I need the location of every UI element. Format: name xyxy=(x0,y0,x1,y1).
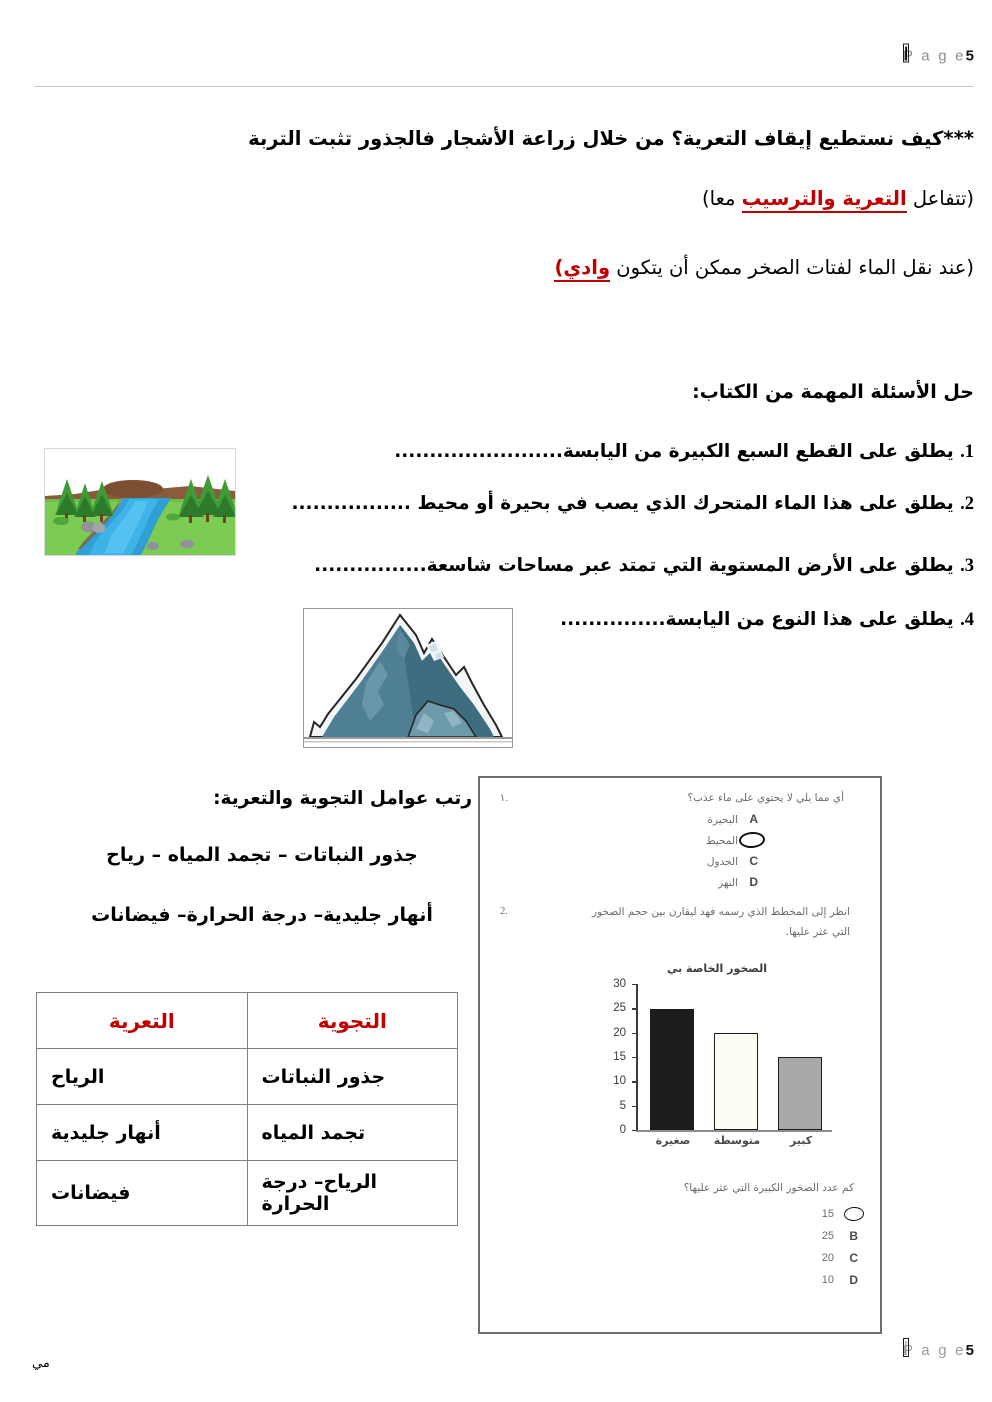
chart-ytick-25: 25 xyxy=(632,1008,637,1009)
question-3-text: يطلق على الأرض المستوية التي تمتد عبر مس… xyxy=(314,555,954,576)
footer-arabic-fragment: مي xyxy=(32,1356,50,1371)
worksheet-q1-option-b-text[interactable]: المحيط xyxy=(648,835,738,847)
footer-page-label: |P a g e5 xyxy=(903,1342,974,1359)
note-highlight-erosion-deposition: التعرية والترسيب xyxy=(742,187,907,213)
mountain-illustration xyxy=(303,608,513,748)
chart-ylabel-30: 30 xyxy=(613,978,626,990)
note-line-valley: (عند نقل الماء لفتات الصخر ممكن أن يتكون… xyxy=(174,255,974,281)
chart-bar-large: كبير xyxy=(778,1057,822,1130)
solve-questions-heading: حل الأسئلة المهمة من الكتاب: xyxy=(174,381,974,403)
worksheet-q2-option-d-value[interactable]: 10 xyxy=(822,1274,834,1286)
chart-ylabel-25: 25 xyxy=(613,1002,626,1014)
cell-weathering-1: جذور النباتات xyxy=(247,1049,457,1105)
worksheet-q1-option-d-letter[interactable]: D xyxy=(749,875,758,889)
chart-ylabel-15: 15 xyxy=(613,1051,626,1063)
table-row: الرياح– درجة الحرارة فيضانات xyxy=(37,1161,458,1226)
worksheet-q1-text: أي مما يلي لا يحتوي على ماء عذب؟ xyxy=(508,792,844,804)
footer-page-bar: | xyxy=(903,1338,909,1357)
question-3-number: 3. xyxy=(960,556,974,576)
worksheet-q2-option-d-letter[interactable]: D xyxy=(849,1273,858,1287)
chart-title: الصخور الخاصة بي xyxy=(598,962,836,975)
valley-open-text: (عند نقل الماء لفتات الصخر ممكن أن يتكون xyxy=(610,256,974,279)
footer-divider xyxy=(478,1332,882,1334)
chart-xlabel-medium: متوسطة xyxy=(714,1134,760,1147)
river-landscape-svg xyxy=(45,449,235,555)
arrange-factors-line-1: جذور النباتات – تجمد المياه – رياح xyxy=(52,844,472,866)
question-2-number: 2. xyxy=(960,494,974,514)
chart-plot-area: 30 25 20 15 10 5 0 صغيرة متوسطة xyxy=(636,984,832,1132)
header-divider xyxy=(34,86,974,87)
table-row: تجمد المياه أنهار جليدية xyxy=(37,1105,458,1161)
chart-ylabel-5: 5 xyxy=(620,1100,626,1112)
mountain-svg xyxy=(304,609,512,747)
chart-ylabel-20: 20 xyxy=(613,1027,626,1039)
chart-bar-medium: متوسطة xyxy=(714,1033,758,1130)
worksheet-q2-option-c-letter[interactable]: C xyxy=(849,1251,858,1265)
cell-erosion-3: فيضانات xyxy=(37,1161,248,1226)
note-close-paren: معا) xyxy=(702,187,742,210)
question-1-text: يطلق على القطع السبع الكبيرة من اليابسة.… xyxy=(394,441,953,462)
chart-ytick-15: 15 xyxy=(632,1057,637,1058)
worksheet-q1-option-d-text[interactable]: النهر xyxy=(648,877,738,889)
cell-weathering-2: تجمد المياه xyxy=(247,1105,457,1161)
chart-ylabel-10: 10 xyxy=(613,1075,626,1087)
chart-bar-small: صغيرة xyxy=(650,1009,694,1131)
page-header xyxy=(0,52,992,92)
stars-marker: *** xyxy=(943,127,974,150)
header-page-word: P a g e xyxy=(903,48,966,65)
intro-line-erosion: ***كيف نستطيع إيقاف التعرية؟ من خلال زرا… xyxy=(174,126,974,152)
chart-ylabel-0: 0 xyxy=(620,1124,626,1136)
note-open-paren: (تتفاعل xyxy=(907,187,974,210)
chart-ytick-20: 20 xyxy=(632,1033,637,1034)
worksheet-q2-text-line-1: انظر إلى المخطط الذي رسمه فهد ليقارن بين… xyxy=(508,906,850,918)
question-2-text: يطلق على هذا الماء المتحرك الذي يصب في ب… xyxy=(291,493,953,514)
selected-answer-circle-icon xyxy=(738,831,765,849)
header-page-number: 5 xyxy=(966,48,974,65)
header-page-label: |P a g e5 xyxy=(903,48,974,65)
worksheet-q2-prompt: كم عدد الصخور الكبيرة التي عثر عليها؟ xyxy=(508,1182,854,1194)
question-1-number: 1. xyxy=(960,442,974,462)
river-landscape-illustration xyxy=(44,448,236,556)
selected-answer-circle-icon xyxy=(844,1206,865,1221)
embedded-worksheet-scan: ١. أي مما يلي لا يحتوي على ماء عذب؟ A ال… xyxy=(478,776,882,1334)
chart-ytick-5: 5 xyxy=(632,1106,637,1107)
arrange-heading: رتب عوامل التجوية والتعرية: xyxy=(52,788,472,809)
arrange-factors-line-2: أنهار جليدية– درجة الحرارة– فيضانات xyxy=(52,904,472,926)
cell-erosion-2: أنهار جليدية xyxy=(37,1105,248,1161)
worksheet-q1-option-c-letter[interactable]: C xyxy=(749,854,758,868)
table-header-erosion: التعرية xyxy=(37,993,248,1049)
worksheet-q1-option-a-text[interactable]: البحيرة xyxy=(648,814,738,826)
chart-x-axis xyxy=(636,1130,832,1132)
cell-weathering-3: الرياح– درجة الحرارة xyxy=(247,1161,457,1226)
worksheet-q2-option-b-value[interactable]: 25 xyxy=(822,1230,834,1242)
worksheet-q2-text-line-2: التي عثر عليها. xyxy=(508,926,850,938)
rocks-bar-chart: الصخور الخاصة بي 30 25 20 15 10 5 0 xyxy=(598,962,836,1162)
worksheet-q2-option-a-value[interactable]: 15 xyxy=(822,1208,834,1220)
worksheet-q2-option-b-letter[interactable]: B xyxy=(849,1229,858,1243)
chart-xlabel-small: صغيرة xyxy=(656,1134,691,1147)
chart-ytick-0: 0 xyxy=(632,1130,637,1131)
table-row: جذور النباتات الرياح xyxy=(37,1049,458,1105)
chart-xlabel-large: كبير xyxy=(790,1134,812,1147)
worksheet-q2-option-c-value[interactable]: 20 xyxy=(822,1252,834,1264)
intro-line-text: كيف نستطيع إيقاف التعرية؟ من خلال زراعة … xyxy=(248,127,943,150)
chart-ytick-10: 10 xyxy=(632,1081,637,1082)
table-header-row: التجوية التعرية xyxy=(37,993,458,1049)
note-highlight-valley: وادي) xyxy=(554,256,610,282)
question-3: 3. يطلق على الأرض المستوية التي تمتد عبر… xyxy=(14,554,974,578)
footer-page-number: 5 xyxy=(966,1342,974,1359)
note-line-interaction: (تتفاعل التعرية والترسيب معا) xyxy=(174,186,974,212)
table-header-weathering: التجوية xyxy=(247,993,457,1049)
cell-erosion-1: الرياح xyxy=(37,1049,248,1105)
question-4-number: 4. xyxy=(960,610,974,630)
question-4-text: يطلق على هذا النوع من اليابسة...........… xyxy=(560,609,954,630)
weathering-erosion-table: التجوية التعرية جذور النباتات الرياح تجم… xyxy=(36,992,458,1226)
worksheet-q1-option-c-text[interactable]: الجدول xyxy=(648,856,738,868)
chart-ytick-30: 30 xyxy=(632,984,637,985)
footer-page-word: P a g e xyxy=(903,1342,966,1359)
header-page-bar: | xyxy=(903,44,909,63)
worksheet-q2-number: 2. xyxy=(500,906,508,917)
worksheet-q1-option-a-letter[interactable]: A xyxy=(749,812,758,826)
worksheet-q1-number: ١. xyxy=(500,792,508,804)
